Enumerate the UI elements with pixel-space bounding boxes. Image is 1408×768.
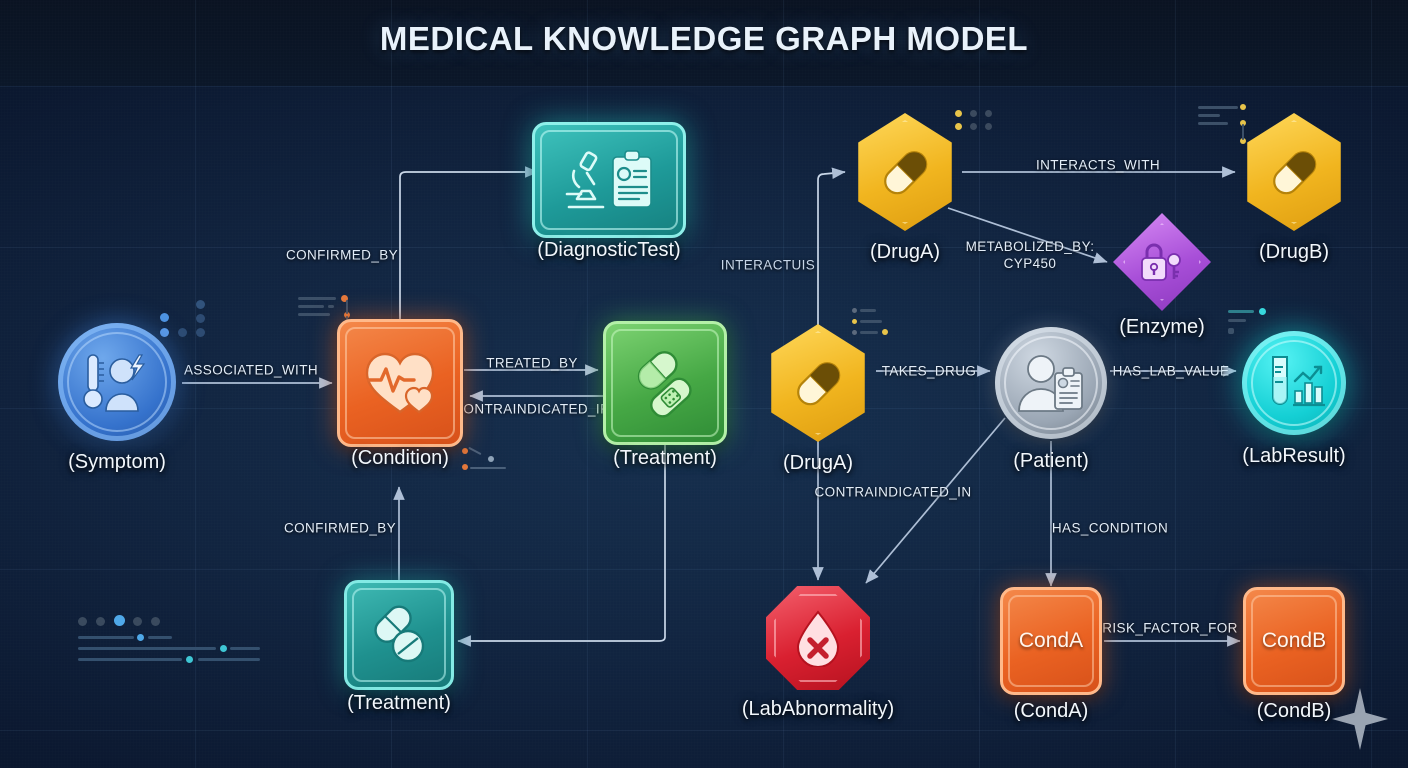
node-label-symptom: (Symptom) (68, 451, 166, 474)
node-label-condition: (Condition) (351, 447, 449, 470)
edge-label-has-lab-value: HAS_LAB_VALUE (1113, 364, 1230, 381)
sparkle-icon (1332, 688, 1388, 750)
node-condb[interactable]: CondB (CondB) (1243, 587, 1345, 695)
node-label-lababnormality: (LabAbnormality) (742, 698, 894, 721)
node-treatment-teal[interactable]: (Treatment) (344, 580, 454, 690)
node-condition[interactable]: (Condition) (337, 319, 463, 447)
node-labresult[interactable]: (LabResult) (1242, 331, 1346, 435)
node-inner-text-condb: CondB (1262, 629, 1326, 653)
node-diagnostictest[interactable]: (DiagnosticTest) (532, 122, 686, 238)
edge-treatment-link (458, 444, 665, 641)
bottomleft-decoration (78, 615, 268, 670)
node-label-labresult: (LabResult) (1242, 445, 1345, 468)
diagram-canvas: MEDICAL KNOWLEDGE GRAPH MODEL (0, 0, 1408, 768)
thermometer-person-icon (80, 349, 154, 415)
node-patient[interactable]: (Patient) (995, 327, 1107, 439)
edge-label-risk-factor-for: RISK_FACTOR_FOR (1102, 621, 1238, 638)
node-label-diagnostictest: (DiagnosticTest) (537, 239, 680, 262)
edge-label-contraindicated-in: CONTRAINDICATED_IN (815, 485, 972, 502)
edge-label-has-condition: HAS_CONDITION (1052, 521, 1168, 538)
edge-label-contraindicated-if: CONTRAINDICATED_IF (453, 402, 608, 419)
node-treatment-green[interactable]: (Treatment) (603, 321, 727, 445)
edge-label-confirmed-by-bottom: CONFIRMED_BY (284, 521, 396, 538)
condition-bar-decoration (462, 448, 510, 474)
pill-capsule-icon (1263, 141, 1325, 203)
pills-icon (366, 602, 432, 668)
node-lababnormality[interactable]: (LabAbnormality) (766, 586, 870, 690)
node-label-condb: (CondB) (1257, 700, 1331, 723)
druga-dot-grid-decoration (955, 110, 1001, 144)
node-druga-mid[interactable]: (DrugA) (764, 324, 872, 442)
node-label-conda: (CondA) (1014, 700, 1088, 723)
node-label-patient: (Patient) (1013, 450, 1089, 473)
edge-label-associated-with: ASSOCIATED_WITH (184, 363, 318, 380)
node-label-druga-mid: (DrugA) (783, 452, 853, 475)
heart-pulse-icon (361, 348, 439, 418)
edge-label-interacts-with: INTERACTS_WITH (1036, 158, 1160, 175)
microscope-clipboard-icon (557, 147, 661, 213)
pill-capsule-icon (874, 141, 936, 203)
node-label-treatment-teal: (Treatment) (347, 692, 451, 715)
pill-capsule-icon (787, 352, 849, 414)
person-clipboard-icon (1015, 351, 1087, 415)
node-label-enzyme: (Enzyme) (1119, 316, 1205, 339)
edge-confirmed-by-top (400, 172, 538, 322)
edge-interacts-up (818, 172, 845, 329)
page-title: MEDICAL KNOWLEDGE GRAPH MODEL (0, 20, 1408, 58)
node-drugb[interactable]: (DrugB) (1240, 113, 1348, 231)
blood-drop-x-icon (792, 609, 844, 667)
edge-label-takes-drug: TAKES_DRUG (882, 364, 977, 381)
node-label-drugb: (DrugB) (1259, 241, 1329, 264)
capsule-bandage-icon (627, 345, 703, 421)
testtube-chart-icon (1261, 353, 1327, 413)
node-druga-top[interactable]: (DrugA) (851, 113, 959, 231)
node-inner-text-conda: CondA (1019, 629, 1083, 653)
edge-label-interacts: INTERACTUIS (721, 258, 815, 275)
lock-key-icon (1136, 238, 1188, 286)
node-enzyme[interactable]: (Enzyme) (1113, 213, 1211, 311)
node-conda[interactable]: CondA (CondA) (1000, 587, 1102, 695)
edge-label-treated-by: TREATED_BY (486, 356, 578, 373)
node-label-druga-top: (DrugA) (870, 241, 940, 264)
node-symptom[interactable]: (Symptom) (58, 323, 176, 441)
edge-label-confirmed-by-top: CONFIRMED_BY (286, 248, 398, 265)
edge-label-metabolized-by: METABOLIZED_BY: CYP450 (966, 239, 1095, 273)
node-label-treatment-green: (Treatment) (613, 447, 717, 470)
